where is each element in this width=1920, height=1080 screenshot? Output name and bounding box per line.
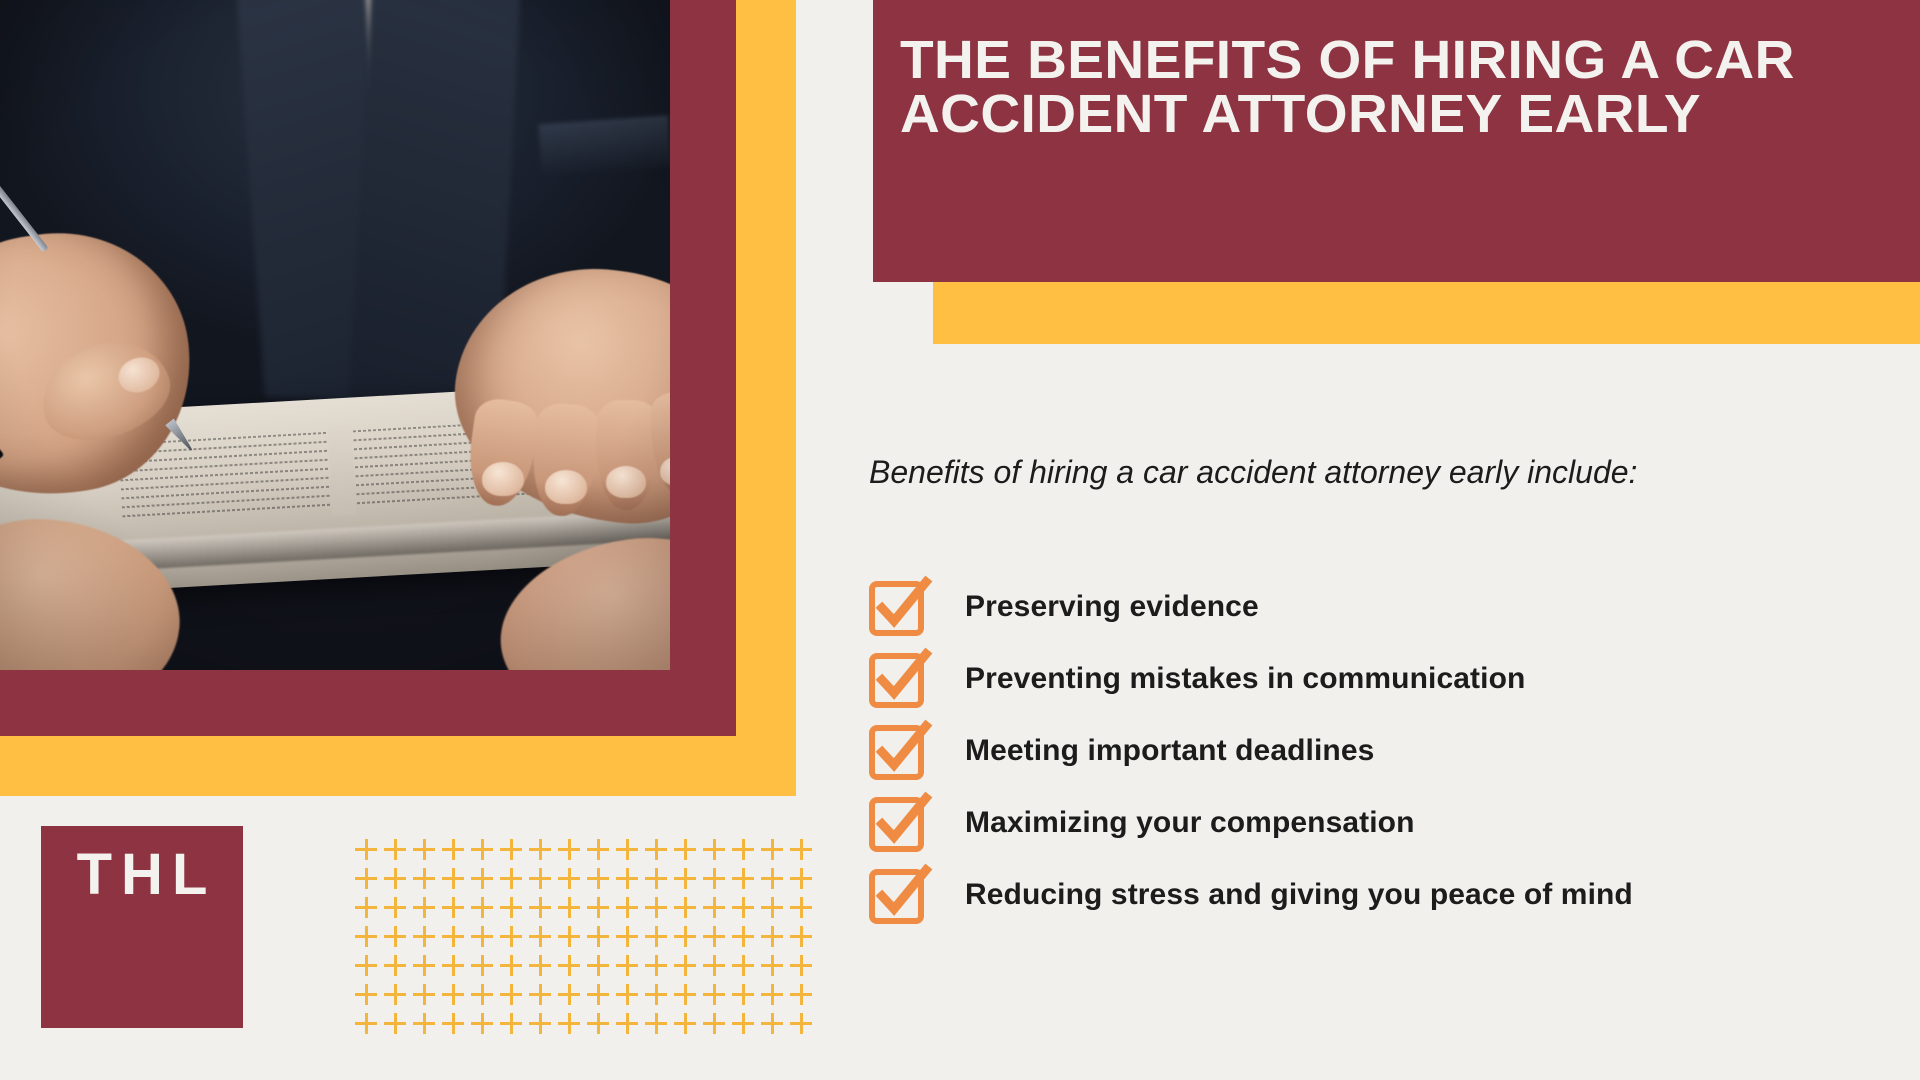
plus-icon bbox=[616, 867, 645, 896]
list-item: Maximizing your compensation bbox=[869, 794, 1879, 852]
plus-icon bbox=[442, 896, 471, 925]
plus-icon bbox=[471, 896, 500, 925]
plus-icon bbox=[558, 838, 587, 867]
plus-icon bbox=[674, 954, 703, 983]
list-item-label: Preserving evidence bbox=[965, 590, 1259, 624]
plus-icon bbox=[558, 925, 587, 954]
plus-icon bbox=[471, 1012, 500, 1041]
plus-icon bbox=[703, 983, 732, 1012]
benefits-checklist: Preserving evidence Preventing mistakes … bbox=[869, 578, 1879, 938]
plus-icon bbox=[587, 954, 616, 983]
checked-checkbox-icon bbox=[869, 578, 927, 636]
plus-icon bbox=[674, 838, 703, 867]
plus-icon bbox=[761, 1012, 790, 1041]
plus-icon bbox=[500, 925, 529, 954]
plus-icon bbox=[587, 838, 616, 867]
plus-icon bbox=[529, 896, 558, 925]
plus-icon bbox=[703, 867, 732, 896]
plus-icon bbox=[761, 925, 790, 954]
plus-icon bbox=[384, 1012, 413, 1041]
title-accent-bar bbox=[933, 282, 1920, 344]
list-item: Preventing mistakes in communication bbox=[869, 650, 1879, 708]
plus-icon bbox=[413, 1012, 442, 1041]
plus-icon bbox=[674, 983, 703, 1012]
plus-icon bbox=[587, 896, 616, 925]
plus-icon bbox=[355, 925, 384, 954]
photo-vignette bbox=[0, 0, 670, 670]
plus-icon bbox=[442, 925, 471, 954]
plus-icon bbox=[471, 867, 500, 896]
plus-icon bbox=[587, 1012, 616, 1041]
plus-icon bbox=[616, 1012, 645, 1041]
checked-checkbox-icon bbox=[869, 722, 927, 780]
plus-icon bbox=[384, 867, 413, 896]
plus-icon bbox=[471, 925, 500, 954]
plus-icon bbox=[384, 925, 413, 954]
plus-icon bbox=[500, 954, 529, 983]
list-item-label: Reducing stress and giving you peace of … bbox=[965, 878, 1633, 912]
plus-icon bbox=[587, 925, 616, 954]
plus-icon bbox=[384, 983, 413, 1012]
plus-icon bbox=[645, 838, 674, 867]
title-band: The Benefits of Hiring a Car Accident At… bbox=[873, 0, 1920, 282]
plus-icon bbox=[732, 838, 761, 867]
plus-icon bbox=[529, 1012, 558, 1041]
checked-checkbox-icon bbox=[869, 650, 927, 708]
plus-icon bbox=[674, 1012, 703, 1041]
plus-icon bbox=[355, 838, 384, 867]
plus-icon bbox=[529, 954, 558, 983]
plus-icon bbox=[442, 1012, 471, 1041]
plus-icon bbox=[761, 954, 790, 983]
list-item: Reducing stress and giving you peace of … bbox=[869, 866, 1879, 924]
plus-icon bbox=[645, 925, 674, 954]
plus-icon bbox=[500, 1012, 529, 1041]
plus-icon bbox=[703, 896, 732, 925]
plus-icon bbox=[587, 983, 616, 1012]
plus-icon bbox=[761, 896, 790, 925]
plus-icon bbox=[442, 983, 471, 1012]
plus-icon bbox=[645, 1012, 674, 1041]
list-item: Meeting important deadlines bbox=[869, 722, 1879, 780]
plus-icon bbox=[413, 838, 442, 867]
plus-icon bbox=[384, 838, 413, 867]
plus-icon bbox=[413, 925, 442, 954]
slide-canvas: The Benefits of Hiring a Car Accident At… bbox=[0, 0, 1920, 1080]
plus-icon bbox=[558, 867, 587, 896]
plus-icon bbox=[471, 954, 500, 983]
plus-icon bbox=[761, 867, 790, 896]
plus-icon bbox=[442, 867, 471, 896]
list-item-label: Meeting important deadlines bbox=[965, 734, 1374, 768]
page-title: The Benefits of Hiring a Car Accident At… bbox=[900, 33, 1910, 141]
plus-icon bbox=[790, 954, 819, 983]
list-item: Preserving evidence bbox=[869, 578, 1879, 636]
logo: THL bbox=[41, 826, 243, 1028]
plus-icon bbox=[413, 867, 442, 896]
checked-checkbox-icon bbox=[869, 866, 927, 924]
plus-icon bbox=[616, 954, 645, 983]
plus-icon bbox=[790, 896, 819, 925]
plus-icon bbox=[471, 838, 500, 867]
plus-grid-decoration bbox=[355, 838, 819, 1041]
plus-icon bbox=[529, 838, 558, 867]
plus-icon bbox=[790, 1012, 819, 1041]
plus-icon bbox=[790, 925, 819, 954]
plus-icon bbox=[645, 983, 674, 1012]
plus-icon bbox=[732, 867, 761, 896]
plus-icon bbox=[645, 896, 674, 925]
plus-icon bbox=[761, 983, 790, 1012]
plus-icon bbox=[703, 954, 732, 983]
plus-icon bbox=[703, 1012, 732, 1041]
plus-icon bbox=[587, 867, 616, 896]
plus-icon bbox=[529, 983, 558, 1012]
plus-icon bbox=[355, 1012, 384, 1041]
checked-checkbox-icon bbox=[869, 794, 927, 852]
plus-icon bbox=[442, 838, 471, 867]
plus-icon bbox=[413, 954, 442, 983]
plus-icon bbox=[732, 954, 761, 983]
plus-icon bbox=[790, 867, 819, 896]
signing-document-photo bbox=[0, 0, 670, 670]
plus-icon bbox=[645, 954, 674, 983]
list-item-label: Preventing mistakes in communication bbox=[965, 662, 1525, 696]
plus-icon bbox=[732, 896, 761, 925]
plus-icon bbox=[355, 896, 384, 925]
plus-icon bbox=[703, 838, 732, 867]
plus-icon bbox=[616, 983, 645, 1012]
plus-icon bbox=[790, 838, 819, 867]
plus-icon bbox=[732, 925, 761, 954]
plus-icon bbox=[500, 867, 529, 896]
plus-icon bbox=[674, 925, 703, 954]
list-item-label: Maximizing your compensation bbox=[965, 806, 1415, 840]
plus-icon bbox=[355, 954, 384, 983]
intro-text: Benefits of hiring a car accident attorn… bbox=[869, 452, 1709, 492]
plus-icon bbox=[761, 838, 790, 867]
plus-icon bbox=[500, 838, 529, 867]
plus-icon bbox=[384, 896, 413, 925]
plus-icon bbox=[500, 896, 529, 925]
plus-icon bbox=[529, 925, 558, 954]
plus-icon bbox=[355, 983, 384, 1012]
plus-icon bbox=[442, 954, 471, 983]
plus-icon bbox=[703, 925, 732, 954]
plus-icon bbox=[471, 983, 500, 1012]
plus-icon bbox=[616, 925, 645, 954]
plus-icon bbox=[558, 1012, 587, 1041]
logo-text: THL bbox=[41, 846, 243, 904]
plus-icon bbox=[529, 867, 558, 896]
plus-icon bbox=[674, 867, 703, 896]
photo-image bbox=[0, 0, 670, 670]
plus-icon bbox=[732, 983, 761, 1012]
plus-icon bbox=[790, 983, 819, 1012]
plus-icon bbox=[558, 983, 587, 1012]
plus-icon bbox=[732, 1012, 761, 1041]
plus-icon bbox=[645, 867, 674, 896]
plus-icon bbox=[674, 896, 703, 925]
plus-icon bbox=[413, 983, 442, 1012]
plus-icon bbox=[500, 983, 529, 1012]
plus-icon bbox=[558, 954, 587, 983]
plus-icon bbox=[355, 867, 384, 896]
plus-icon bbox=[413, 896, 442, 925]
plus-icon bbox=[616, 896, 645, 925]
plus-icon bbox=[384, 954, 413, 983]
plus-icon bbox=[616, 838, 645, 867]
plus-icon bbox=[558, 896, 587, 925]
